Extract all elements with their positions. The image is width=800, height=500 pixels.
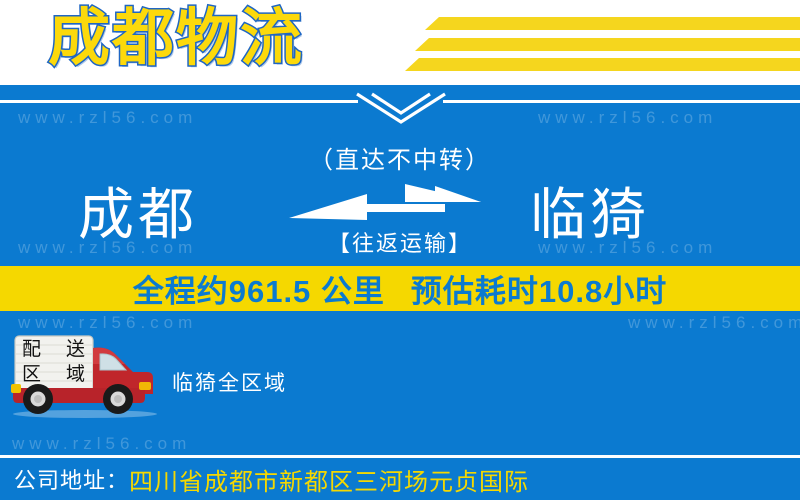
watermark-1: www.rzl56.com [18,108,197,128]
bidirectional-arrow-icon [285,182,485,224]
company-logo-text: 成都物流 [48,2,304,73]
logistics-banner: www.rzl56.comwww.rzl56.comwww.rzl56.comw… [0,0,800,500]
decor-stripe-1 [425,17,800,30]
divider-rule-right [443,100,800,103]
estimated-duration-text: 预估耗时10.8小时 [411,266,667,311]
address-value: 四川省成都市新都区三河场元贞国际 [129,462,529,497]
watermark-7: www.rzl56.com [12,434,191,454]
coverage-area-label: 临猗全区域 [172,367,287,397]
truck-char-3: 区 [22,365,56,384]
distance-bar: 全程约961.5 公里 预估耗时10.8小时 [0,266,800,311]
divider-rule-left [0,100,358,103]
truck-char-4: 域 [66,365,100,384]
decor-stripe-2 [415,38,800,51]
banner-header: 成都物流 [0,0,800,85]
address-label: 公司地址： [14,463,129,495]
watermark-6: www.rzl56.com [628,313,800,333]
decor-stripe-3 [405,58,800,71]
truck-coverage-chars: 配 送 区 域 [22,340,100,384]
roundtrip-label: 【往返运输】 [0,226,800,258]
watermark-2: www.rzl56.com [538,108,717,128]
total-distance-text: 全程约961.5 公里 [133,266,385,311]
footer-address-bar: 公司地址： 四川省成都市新都区三河场元贞国际 [0,458,800,500]
truck-char-1: 配 [22,340,56,359]
chevron-down-icon [355,92,447,132]
truck-char-2: 送 [66,340,100,359]
